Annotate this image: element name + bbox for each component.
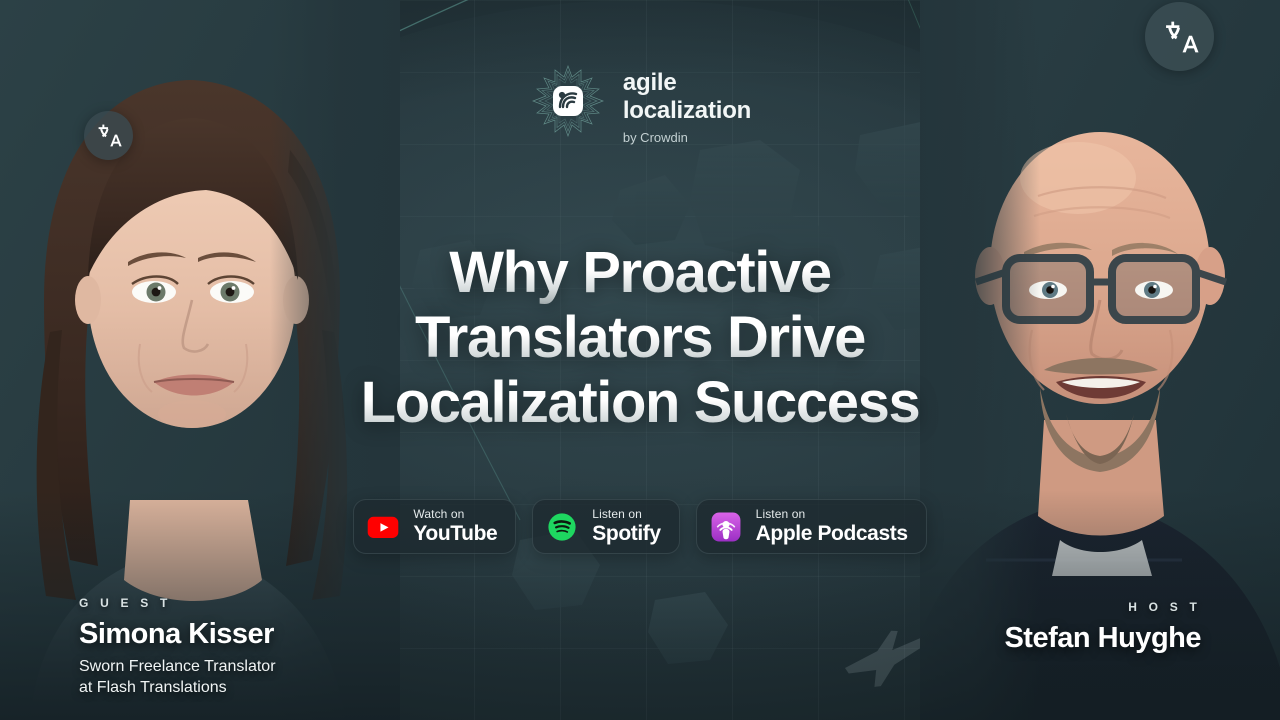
brand-lockup: agile localization by Crowdin: [0, 62, 1280, 146]
translate-badge-right[interactable]: [1145, 2, 1214, 71]
spotify-button-text: Listen on Spotify: [592, 508, 660, 546]
translate-icon: [1161, 18, 1199, 56]
spotify-big-label: Spotify: [592, 522, 660, 546]
logo-tile: [553, 86, 583, 116]
youtube-small-label: Watch on: [413, 508, 497, 521]
youtube-button-text: Watch on YouTube: [413, 508, 497, 546]
brand-text-block: agile localization by Crowdin: [623, 62, 751, 146]
apple-podcasts-icon: [709, 510, 743, 544]
agile-localization-logo: [529, 62, 607, 140]
spotify-icon: [545, 510, 579, 544]
apple-podcasts-small-label: Listen on: [756, 508, 908, 521]
brand-line-localization: localization: [623, 99, 751, 123]
youtube-big-label: YouTube: [413, 522, 497, 546]
listen-on-spotify-button[interactable]: Listen on Spotify: [532, 499, 679, 554]
listen-on-apple-podcasts-button[interactable]: Listen on Apple Podcasts: [696, 499, 927, 554]
apple-podcasts-big-label: Apple Podcasts: [756, 522, 908, 546]
youtube-play-icon: [366, 510, 400, 544]
apple-podcasts-button-text: Listen on Apple Podcasts: [756, 508, 908, 546]
platform-buttons: Watch on YouTube Listen on Spotify: [0, 499, 1280, 554]
logo-starburst-icon: [529, 62, 607, 140]
logo-dot: [559, 92, 565, 98]
brand-byline: by Crowdin: [623, 130, 751, 146]
podcast-cover-canvas: agile localization by Crowdin Why Proact…: [0, 0, 1280, 720]
watch-on-youtube-button[interactable]: Watch on YouTube: [353, 499, 516, 554]
brand-line-agile: agile: [623, 71, 751, 95]
spotify-small-label: Listen on: [592, 508, 660, 521]
